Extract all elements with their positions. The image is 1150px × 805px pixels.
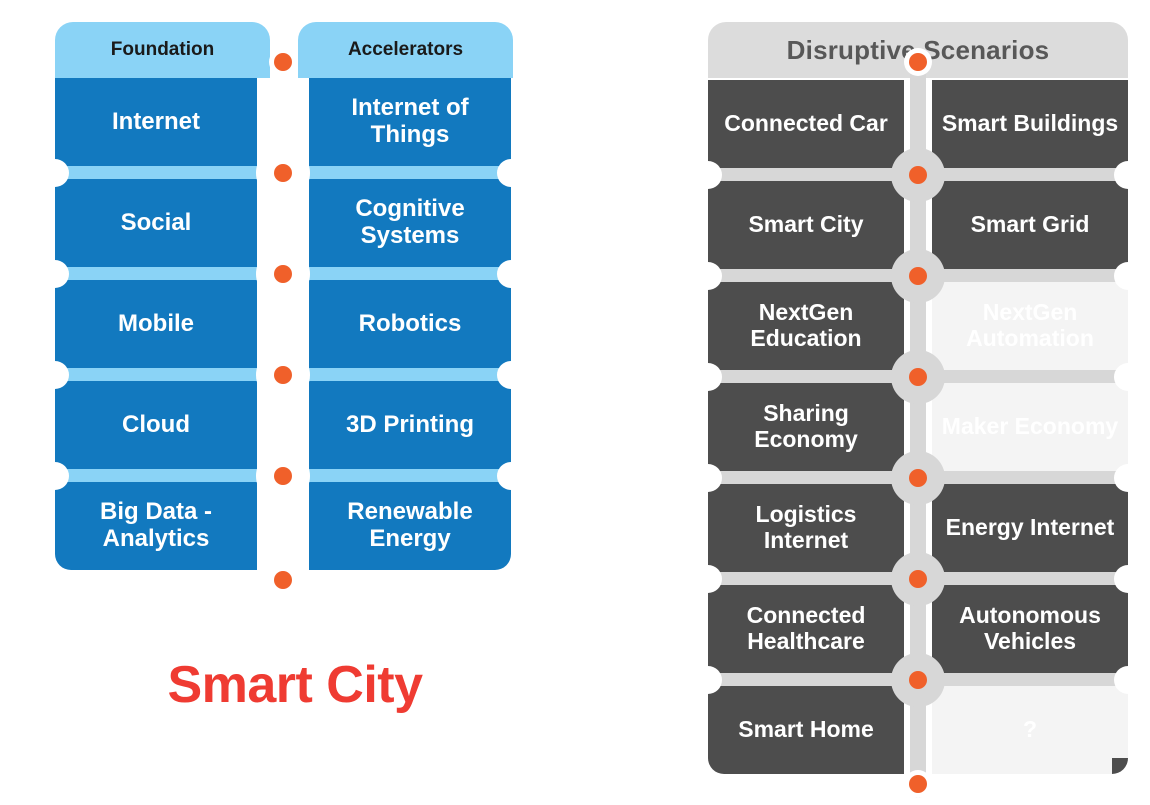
edge-notch-2-left xyxy=(694,363,722,391)
edge-notch-5-left xyxy=(694,666,722,694)
cell-label: NextGen Education xyxy=(708,300,904,352)
cell-label: Logistics Internet xyxy=(708,502,904,554)
cell-right-0[interactable]: Smart Buildings xyxy=(932,80,1128,168)
connector-node-dot-0 xyxy=(274,53,292,71)
technology-progression-panel: Foundation Accelerators InternetInternet… xyxy=(55,22,480,582)
cell-right-0[interactable]: Internet of Things xyxy=(309,78,511,166)
cell-label: Sharing Economy xyxy=(708,401,904,453)
edge-notch-3-left xyxy=(694,464,722,492)
edge-notch-1-left xyxy=(694,262,722,290)
connector-node-dot-3 xyxy=(909,368,927,386)
edge-notch-5-right xyxy=(1114,666,1142,694)
column-header-accelerators: Accelerators xyxy=(298,22,513,78)
cell-left-2[interactable]: NextGen Education xyxy=(708,282,904,370)
cell-label: Internet of Things xyxy=(309,95,511,149)
cell-label: Maker Economy xyxy=(934,414,1126,440)
cell-left-0[interactable]: Connected Car xyxy=(708,80,904,168)
cell-left-1[interactable]: Smart City xyxy=(708,181,904,269)
cell-label: Mobile xyxy=(110,311,202,338)
edge-notch-4-left xyxy=(694,565,722,593)
cell-right-4[interactable]: Renewable Energy xyxy=(309,482,511,570)
cell-label: Energy Internet xyxy=(938,515,1123,541)
cell-left-2[interactable]: Mobile xyxy=(55,280,257,368)
edge-notch-0-right xyxy=(497,159,525,187)
edge-notch-1-right xyxy=(1114,262,1142,290)
connector-node-dot-4 xyxy=(274,467,292,485)
connector-node-dot-2 xyxy=(274,265,292,283)
cell-label: Robotics xyxy=(351,311,470,338)
edge-notch-4-right xyxy=(1114,565,1142,593)
connector-node-dot-1 xyxy=(274,164,292,182)
edge-notch-0-left xyxy=(694,161,722,189)
cell-label: Connected Car xyxy=(716,111,896,137)
connector-node-dot-5 xyxy=(274,571,292,589)
cell-label: Social xyxy=(113,210,200,237)
edge-notch-0-right xyxy=(1114,161,1142,189)
cell-right-1[interactable]: Smart Grid xyxy=(932,181,1128,269)
edge-notch-2-right xyxy=(1114,363,1142,391)
edge-notch-3-left xyxy=(41,462,69,490)
edge-notch-1-right xyxy=(497,260,525,288)
connector-node-dot-1 xyxy=(909,166,927,184)
cell-right-2[interactable]: NextGen Automation xyxy=(932,282,1128,370)
cell-label: Renewable Energy xyxy=(309,499,511,553)
connector-node-dot-4 xyxy=(909,469,927,487)
cell-label: ? xyxy=(1015,717,1045,743)
edge-notch-2-right xyxy=(497,361,525,389)
cell-label: Smart Buildings xyxy=(934,111,1126,137)
connector-node-dot-5 xyxy=(909,570,927,588)
cell-left-4[interactable]: Logistics Internet xyxy=(708,484,904,572)
connector-node-dot-3 xyxy=(274,366,292,384)
connector-line xyxy=(275,48,291,594)
column-header-foundation: Foundation xyxy=(55,22,270,78)
cell-right-5[interactable]: Autonomous Vehicles xyxy=(932,585,1128,673)
connector-node-dot-6 xyxy=(909,671,927,689)
cell-right-3[interactable]: 3D Printing xyxy=(309,381,511,469)
cell-right-6[interactable]: ? xyxy=(932,686,1128,774)
cell-label: Big Data - Analytics xyxy=(55,499,257,553)
edge-notch-3-right xyxy=(497,462,525,490)
connector-node-dot-7 xyxy=(909,775,927,793)
disruptive-scenarios-panel: Disruptive Scenarios Connected CarSmart … xyxy=(708,22,1128,782)
cell-right-4[interactable]: Energy Internet xyxy=(932,484,1128,572)
smart-city-title: Smart City xyxy=(55,655,535,715)
edge-notch-2-left xyxy=(41,361,69,389)
edge-notch-3-right xyxy=(1114,464,1142,492)
cell-label: Smart Home xyxy=(730,717,881,743)
cell-right-1[interactable]: Cognitive Systems xyxy=(309,179,511,267)
cell-label: Internet xyxy=(104,109,208,136)
cell-label: Cloud xyxy=(114,412,198,439)
cell-label: Smart City xyxy=(740,212,871,238)
cell-left-0[interactable]: Internet xyxy=(55,78,257,166)
cell-left-4[interactable]: Big Data - Analytics xyxy=(55,482,257,570)
cell-right-3[interactable]: Maker Economy xyxy=(932,383,1128,471)
cell-label: Smart Grid xyxy=(963,212,1098,238)
cell-left-5[interactable]: Connected Healthcare xyxy=(708,585,904,673)
cell-label: Connected Healthcare xyxy=(708,603,904,655)
cell-label: Cognitive Systems xyxy=(309,196,511,250)
connector-node-dot-0 xyxy=(909,53,927,71)
cell-left-1[interactable]: Social xyxy=(55,179,257,267)
cell-label: Autonomous Vehicles xyxy=(932,603,1128,655)
cell-right-2[interactable]: Robotics xyxy=(309,280,511,368)
cell-label: 3D Printing xyxy=(338,412,482,439)
cell-label: NextGen Automation xyxy=(932,300,1128,352)
cell-left-3[interactable]: Cloud xyxy=(55,381,257,469)
connector-node-dot-2 xyxy=(909,267,927,285)
edge-notch-1-left xyxy=(41,260,69,288)
cell-left-6[interactable]: Smart Home xyxy=(708,686,904,774)
cell-left-3[interactable]: Sharing Economy xyxy=(708,383,904,471)
edge-notch-0-left xyxy=(41,159,69,187)
